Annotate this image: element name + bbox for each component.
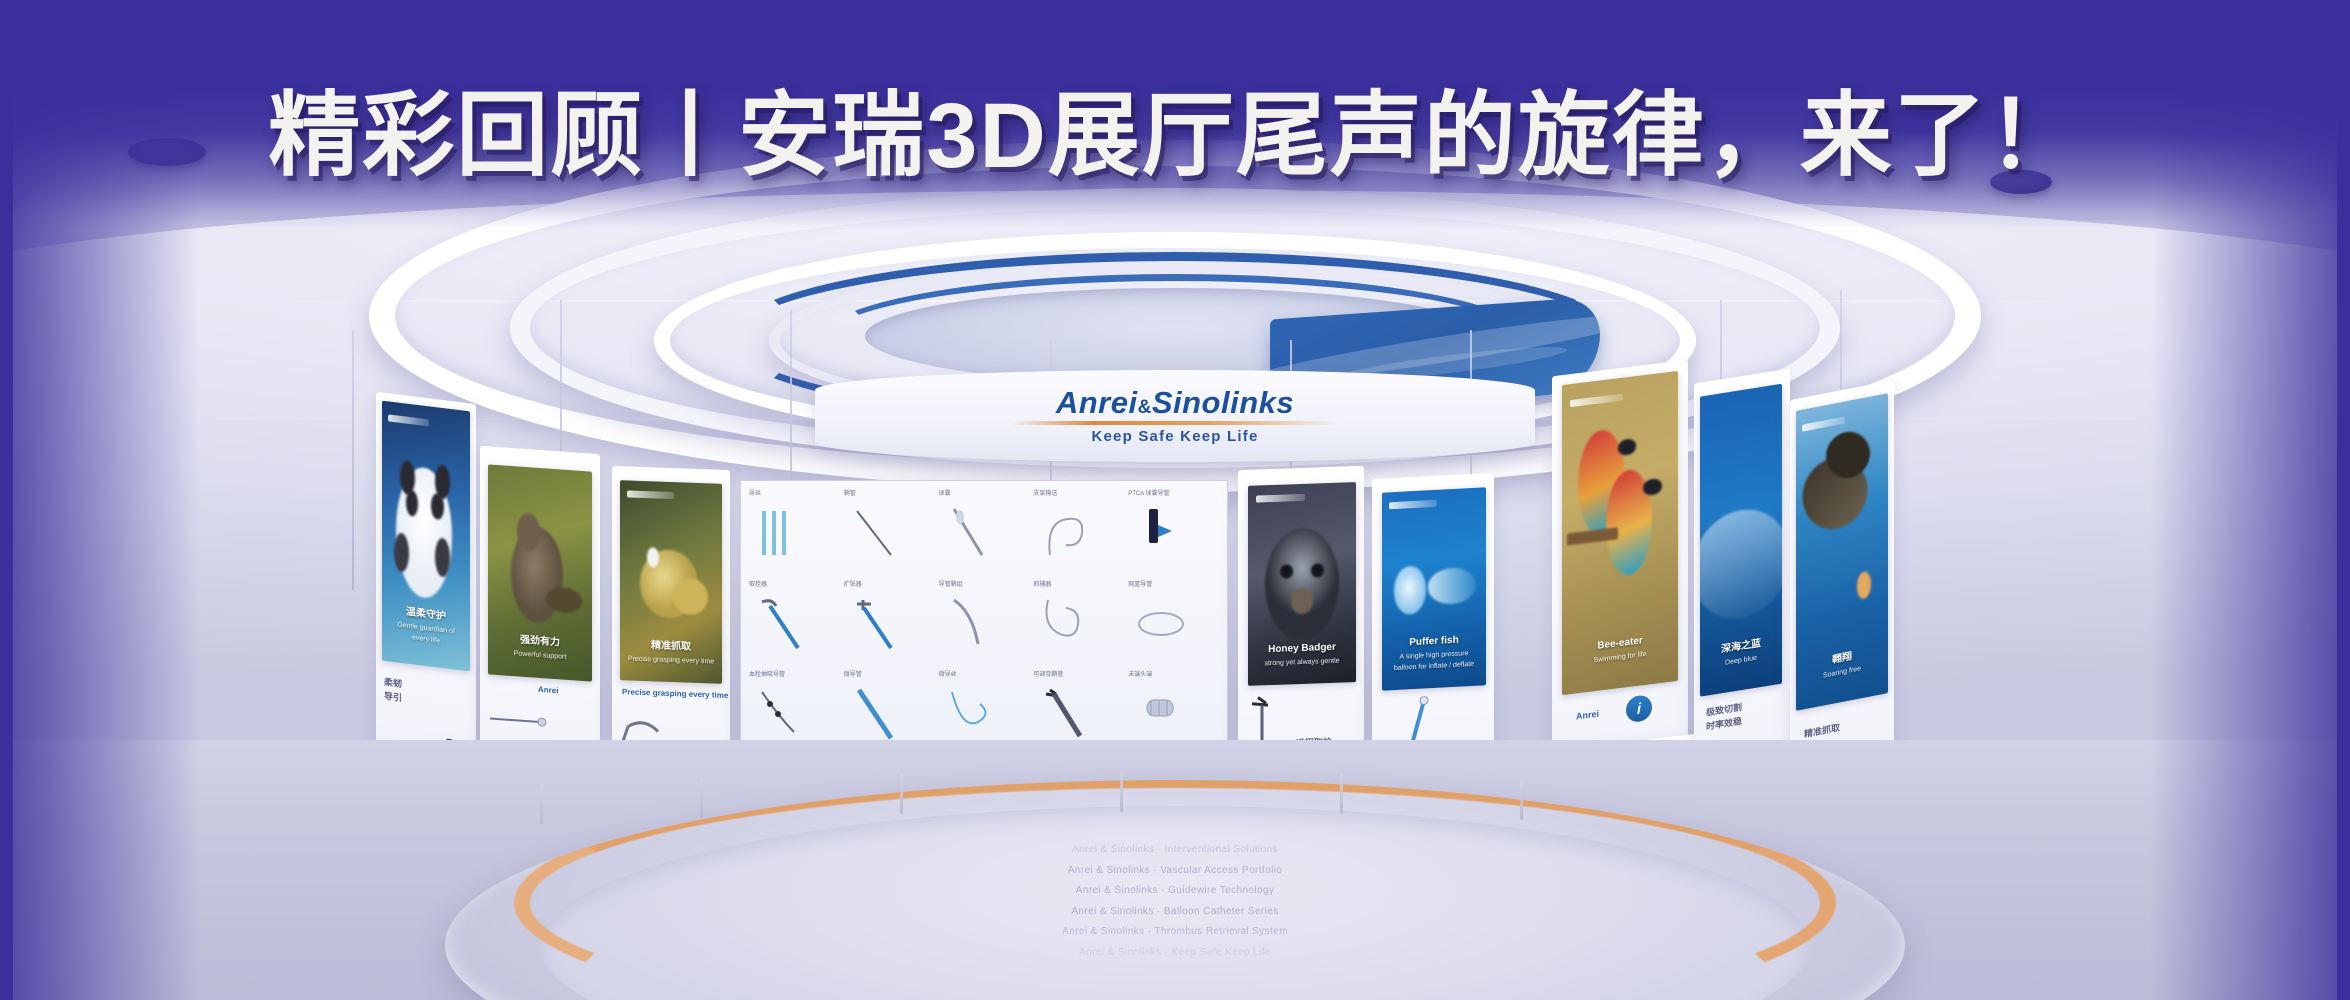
product-cell[interactable]: 扩张器: [844, 582, 935, 660]
rail-post-3: [900, 774, 903, 814]
product-icon-tip: [1137, 686, 1185, 742]
poster-kangaroo-caption: 强劲有力 Powerful support: [495, 631, 584, 665]
eagle-sun-shape: [1857, 570, 1872, 600]
product-icon-balloon: [948, 505, 996, 561]
product-cell[interactable]: 支架输送: [1033, 491, 1124, 569]
product-icon-steerable-sheath: [1042, 686, 1090, 742]
product-cell[interactable]: 微导丝: [939, 672, 1030, 750]
frog-leg-shape: [673, 578, 708, 615]
poster-badger[interactable]: Honey Badger strong yet always gentle: [1248, 482, 1356, 686]
bird-beak-upper: [1618, 438, 1637, 456]
product-icon-sheath: [853, 505, 901, 561]
product-catalog-board[interactable]: 导丝 鞘管 球囊: [740, 480, 1228, 770]
puffer-tail-shape: [1428, 567, 1476, 605]
exhibition-banner: Anrei&Sinolinks Keep Safe Keep Life: [0, 0, 2350, 1000]
birds-brand-label: Anrei: [1576, 707, 1599, 724]
product-icon-snare: [1042, 505, 1090, 561]
floor-engraved-text: Anrei & Sinolinks · Interventional Solut…: [695, 840, 1655, 963]
poster-brand-mark: [1570, 393, 1623, 407]
rail-post-6: [1520, 780, 1523, 820]
panda-arm-right: [435, 537, 450, 578]
product-cell[interactable]: 导管鞘组: [939, 582, 1030, 660]
poster-brand-mark: [1389, 500, 1437, 510]
rail-post-4: [1120, 772, 1123, 812]
product-cell[interactable]: 末端头端: [1128, 672, 1219, 750]
product-icon-microwire: [948, 686, 996, 742]
frog-eye-shape: [647, 547, 659, 567]
sea-caption-text: 极致切割 时率效稳: [1706, 700, 1742, 734]
product-cell[interactable]: 血栓抽吸导管: [749, 672, 840, 750]
product-cell[interactable]: 鞘管: [844, 491, 935, 569]
sea-wave-shape: [1700, 502, 1782, 626]
product-cell[interactable]: 可调弯鞘管: [1033, 672, 1124, 750]
frog-tagline: Precise grasping every time: [622, 686, 728, 703]
poster-frog-caption: 精准抓取 Precise grasping every time: [627, 637, 715, 668]
product-cell[interactable]: 网篮导管: [1128, 582, 1219, 660]
poster-brand-mark: [1256, 494, 1306, 503]
poster-puffer-caption: Puffer fish A single high pressure ballo…: [1389, 632, 1478, 675]
badger-head-shape: [1265, 527, 1338, 642]
panda-caption-text: 柔韧 导引: [384, 675, 402, 706]
poster-brand-mark: [1802, 416, 1844, 431]
product-icon-catheter-kit: [948, 596, 996, 652]
poster-kangaroo[interactable]: 强劲有力 Powerful support: [488, 464, 592, 681]
poster-eagle[interactable]: 翱翔 Soaring free: [1796, 393, 1888, 711]
kangaroo-head-shape: [517, 513, 540, 552]
eagle-caption-text: 精准抓取: [1804, 720, 1840, 741]
product-icon-aspiration: [758, 686, 806, 742]
product-icon-dilator: [853, 596, 901, 652]
brand-circle-badge: i: [1626, 694, 1652, 723]
poster-panda[interactable]: 温柔守护 Gentle guardian of every life: [382, 401, 470, 672]
poster-puffer[interactable]: Puffer fish A single high pressure ballo…: [1382, 487, 1486, 690]
puffer-body-shape: [1394, 566, 1425, 615]
product-icon-grasper: [1042, 596, 1090, 652]
bird-beak-lower: [1643, 478, 1662, 496]
product-icon-microcatheter: [853, 686, 901, 742]
rail-post-2: [700, 778, 703, 818]
product-icon-ptca-balloon: [1137, 505, 1185, 561]
product-cell[interactable]: PTCA 球囊导管: [1128, 491, 1219, 569]
product-cell[interactable]: 导丝: [749, 491, 840, 569]
rail-post-5: [1340, 774, 1343, 814]
poster-brand-mark: [627, 490, 674, 499]
kangaroo-brandmark: Anrei: [538, 684, 558, 698]
product-cell[interactable]: 抓捕器: [1033, 582, 1124, 660]
banner-title: 精彩回顾丨安瑞3D展厅尾声的旋律，来了！: [0, 88, 2350, 185]
poster-panda-caption: 温柔守护 Gentle guardian of every life: [388, 603, 464, 650]
product-icon-retriever: [758, 596, 806, 652]
poster-sea[interactable]: 深海之蓝 Deep blue: [1700, 384, 1782, 697]
panda-eye-right: [431, 492, 443, 520]
poster-birds-caption: Bee-eater Swimming for life: [1570, 630, 1670, 670]
poster-brand-mark: [388, 414, 428, 426]
product-icon-guidewire: [758, 505, 806, 561]
product-cell[interactable]: 取栓器: [749, 582, 840, 660]
poster-frog[interactable]: 精准抓取 Precise grasping every time: [620, 480, 722, 684]
product-cell[interactable]: 球囊: [939, 491, 1030, 569]
rail-post-1: [540, 784, 543, 824]
poster-badger-caption: Honey Badger strong yet always gentle: [1256, 639, 1349, 670]
product-icon-basket: [1137, 596, 1185, 652]
ceiling-light-4: [2150, 58, 2208, 80]
poster-birds[interactable]: Bee-eater Swimming for life: [1562, 371, 1678, 695]
poster-eagle-caption: 翱翔 Soaring free: [1802, 643, 1881, 686]
product-cell[interactable]: 微导管: [844, 672, 935, 750]
badger-eye-right: [1311, 563, 1324, 577]
poster-sea-caption: 深海之蓝 Deep blue: [1706, 633, 1777, 672]
